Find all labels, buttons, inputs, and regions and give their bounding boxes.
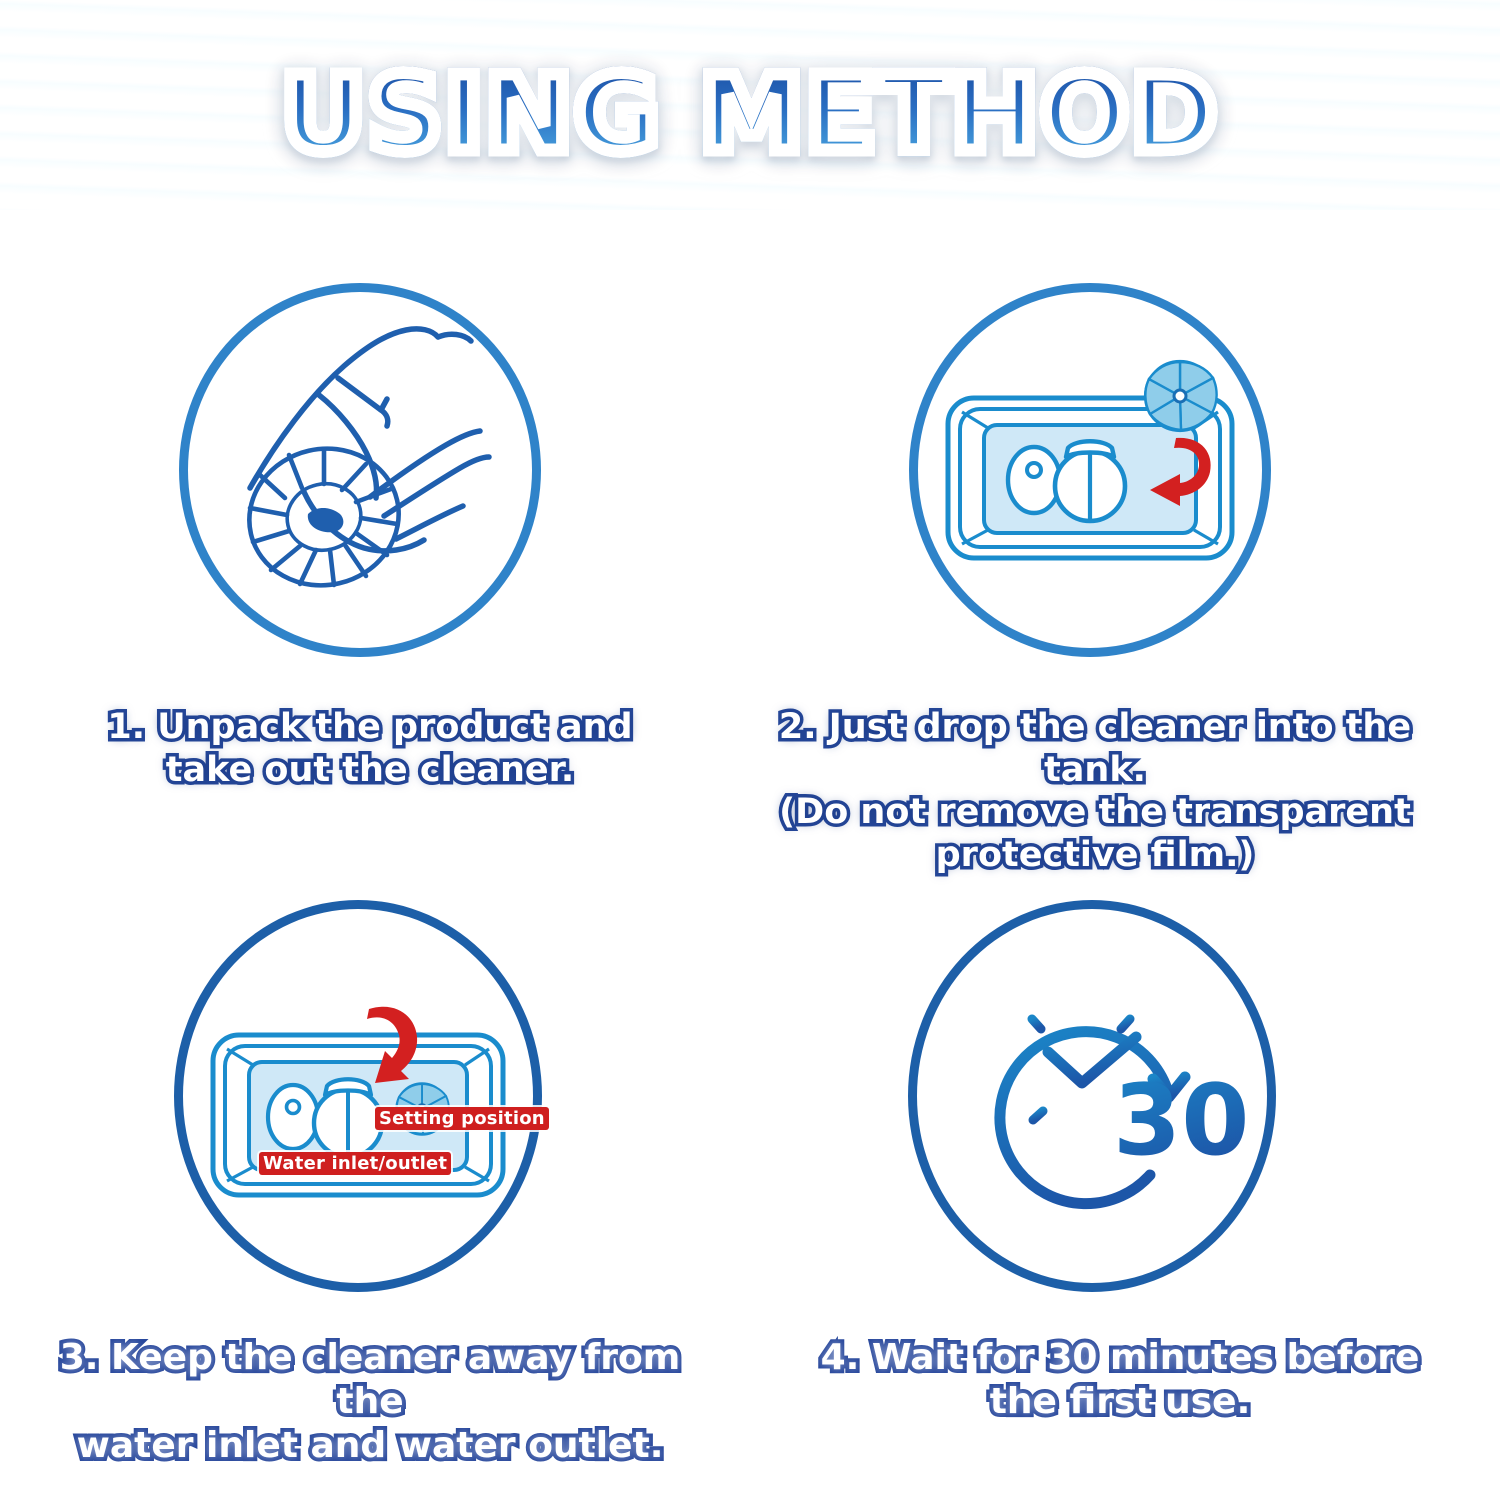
step-3-icon-circle: Setting position Water inlet/outlet: [174, 900, 542, 1292]
step-2-icon-circle: [909, 283, 1271, 657]
step-1-caption-line-2: take out the cleaner.: [60, 749, 680, 792]
step-1-caption: 1. Unpack the product and take out the c…: [60, 706, 680, 791]
water-inlet-outlet-label: Water inlet/outlet: [259, 1152, 451, 1175]
step-2-caption-line-1: 2. Just drop the cleaner into the tank.: [745, 706, 1445, 791]
step-4-icon-circle: 30: [908, 900, 1276, 1292]
setting-position-label: Setting position: [375, 1107, 549, 1130]
step-2-caption: 2. Just drop the cleaner into the tank. …: [745, 706, 1445, 877]
step-1-icon-circle: [179, 283, 541, 657]
step-2-caption-line-3: protective film.): [745, 834, 1445, 877]
step-4-caption: 4. Wait for 30 minutes before the first …: [790, 1336, 1450, 1424]
page-title: USING METHOD: [0, 62, 1500, 166]
using-method-poster: USING METHOD: [0, 0, 1500, 1500]
step-3-caption-line-2: water inlet and water outlet.: [20, 1424, 720, 1468]
step-2-caption-line-2: (Do not remove the transparent: [745, 791, 1445, 834]
step-3-caption: 3. Keep the cleaner away from the water …: [20, 1336, 720, 1468]
clock-value-text: 30: [1113, 1064, 1249, 1178]
toilet-tank-drop-cleaner-icon: [918, 292, 1262, 648]
clock-30-minutes-icon: 30: [917, 909, 1267, 1283]
step-4-caption-line-2: the first use.: [790, 1380, 1450, 1424]
hand-holding-cleaner-disc-icon: [188, 292, 532, 648]
step-3-caption-line-1: 3. Keep the cleaner away from the: [20, 1336, 720, 1424]
step-1-caption-line-1: 1. Unpack the product and: [60, 706, 680, 749]
step-4-caption-line-1: 4. Wait for 30 minutes before: [790, 1336, 1450, 1380]
toilet-tank-setting-position-icon: [183, 909, 533, 1283]
